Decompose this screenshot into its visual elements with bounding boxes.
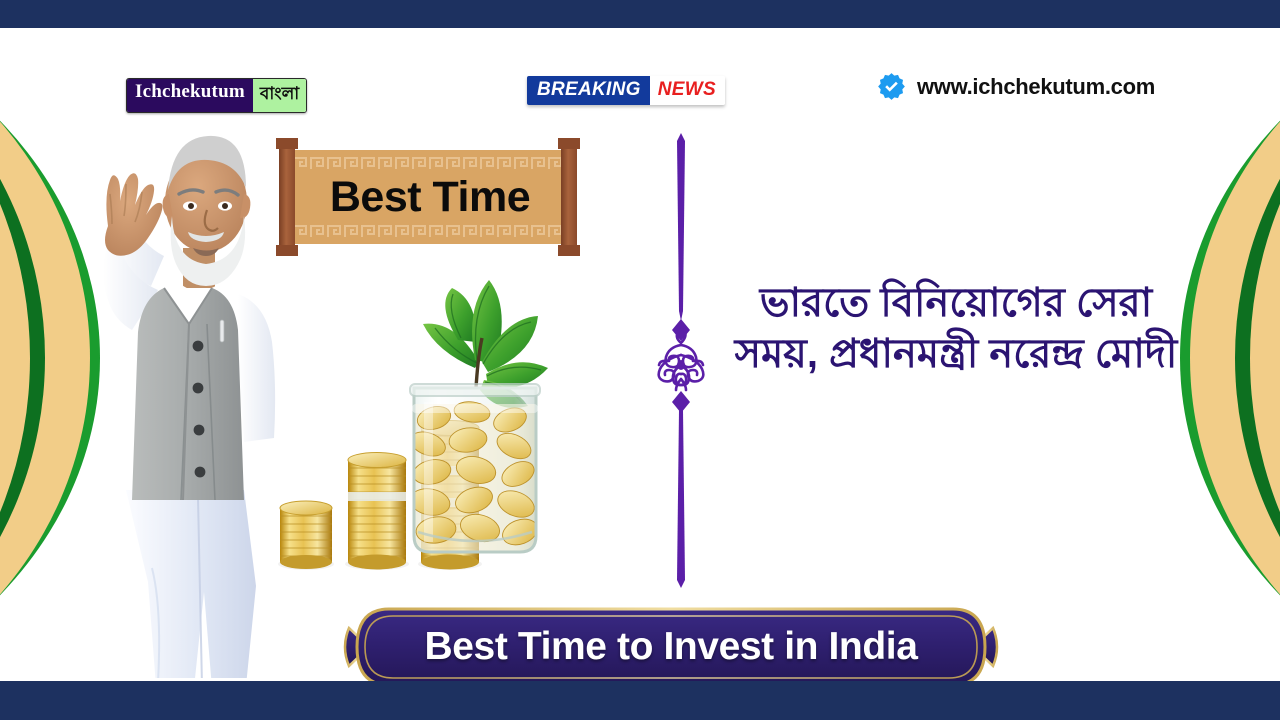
card-canvas: Ichchekutum বাংলা BREAKING NEWS www.ichc… [0, 28, 1280, 681]
best-time-label: Best Time [292, 150, 568, 244]
news-graphic-card: Ichchekutum বাংলা BREAKING NEWS www.ichc… [0, 0, 1280, 720]
post-cap-bottom-right [558, 245, 580, 256]
bengali-headline: ভারতে বিনিয়োগের সেরা সময়, প্রধানমন্ত্র… [718, 278, 1194, 380]
site-logo[interactable]: Ichchekutum বাংলা [126, 78, 307, 113]
website-url-text: www.ichchekutum.com [917, 74, 1155, 100]
news-word: NEWS [650, 76, 725, 105]
ornamental-filigree-divider [653, 133, 709, 588]
plaque-title-label: Best Time to Invest in India [335, 606, 1007, 681]
bottom-frame-bar [0, 681, 1280, 720]
website-url-group[interactable]: www.ichchekutum.com [877, 72, 1155, 101]
logo-language-badge: বাংলা [253, 79, 306, 112]
top-frame-bar [0, 0, 1280, 28]
breaking-news-badge: BREAKING NEWS [527, 76, 725, 105]
coin-stacks-and-money-jar-illustration [272, 276, 664, 582]
verified-badge-icon [877, 72, 906, 101]
bottom-title-plaque: Best Time to Invest in India [335, 606, 1007, 681]
post-cap-bottom-left [276, 245, 298, 256]
best-time-banner: Best Time [270, 138, 590, 256]
breaking-word: BREAKING [527, 76, 650, 105]
post-cap-top-left [276, 138, 298, 149]
post-cap-top-right [558, 138, 580, 149]
logo-name-text: Ichchekutum [127, 79, 253, 112]
